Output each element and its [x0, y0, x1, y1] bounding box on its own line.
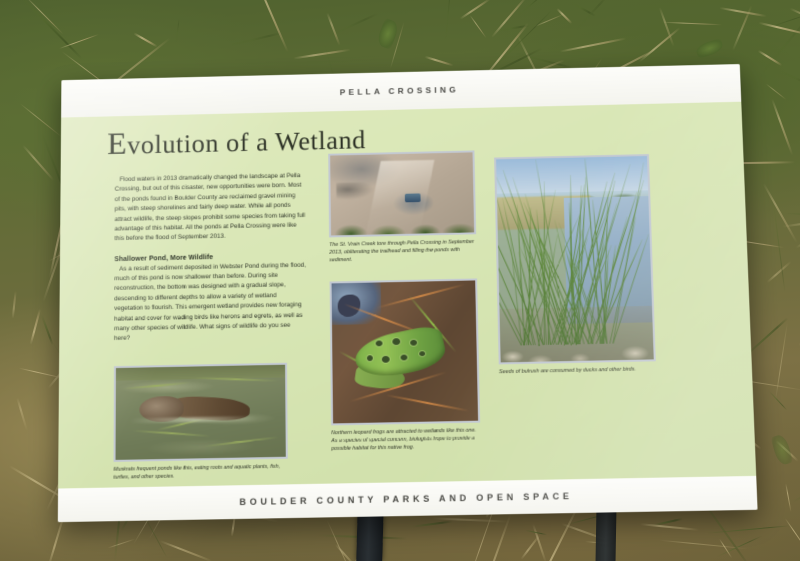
photo-frog-art — [332, 280, 479, 423]
intro-paragraph: Flood waters in 2013 dramatically change… — [114, 171, 305, 244]
sign-body: Evolution of a Wetland Flood waters in 2… — [58, 102, 756, 489]
photo-bulrush-art — [496, 156, 654, 362]
photo-flood-caption: The St. Vrain Creek tore through Pella C… — [329, 238, 475, 264]
outdoor-scene: PELLA CROSSING Evolution of a Wetland Fl… — [0, 0, 800, 561]
photo-bulrush: PHOTO BY BOULDER COUNTY — [494, 154, 656, 364]
photo-frog-caption: Northern leopard frogs are attracted to … — [331, 427, 479, 453]
photo-muskrat-caption: Muskrats frequent ponds like this, eatin… — [113, 462, 282, 481]
title-initial: E — [107, 127, 127, 161]
photo-flood-aerial: PHOTO COURTESY BOULDER COUNTY — [328, 150, 476, 237]
photo-muskrat-art — [116, 364, 286, 459]
photo-leopard-frog: PHOTO BY BOULDER COUNTY — [330, 278, 481, 425]
photo-bulrush-caption: Seeds of bulrush are consumed by ducks a… — [499, 365, 654, 376]
sign-post-right — [596, 508, 617, 561]
right-column: PHOTO BY BOULDER COUNTY Seeds of bulrush… — [494, 154, 658, 376]
interpretive-sign[interactable]: PELLA CROSSING Evolution of a Wetland Fl… — [58, 64, 758, 522]
agency-label: BOULDER COUNTY PARKS AND OPEN SPACE — [240, 491, 573, 507]
middle-column: PHOTO COURTESY BOULDER COUNTY The St. Vr… — [328, 150, 482, 453]
park-name-label: PELLA CROSSING — [340, 85, 459, 97]
photo-muskrat: PHOTO BY BOULDER COUNTY — [114, 362, 288, 461]
photo-flood-art — [330, 152, 474, 235]
sign-panel: PELLA CROSSING Evolution of a Wetland Fl… — [58, 64, 758, 522]
left-column: Flood waters in 2013 dramatically change… — [113, 171, 307, 481]
content-columns: Flood waters in 2013 dramatically change… — [105, 162, 730, 495]
section-paragraph: As a result of sediment deposited in Web… — [114, 261, 307, 345]
